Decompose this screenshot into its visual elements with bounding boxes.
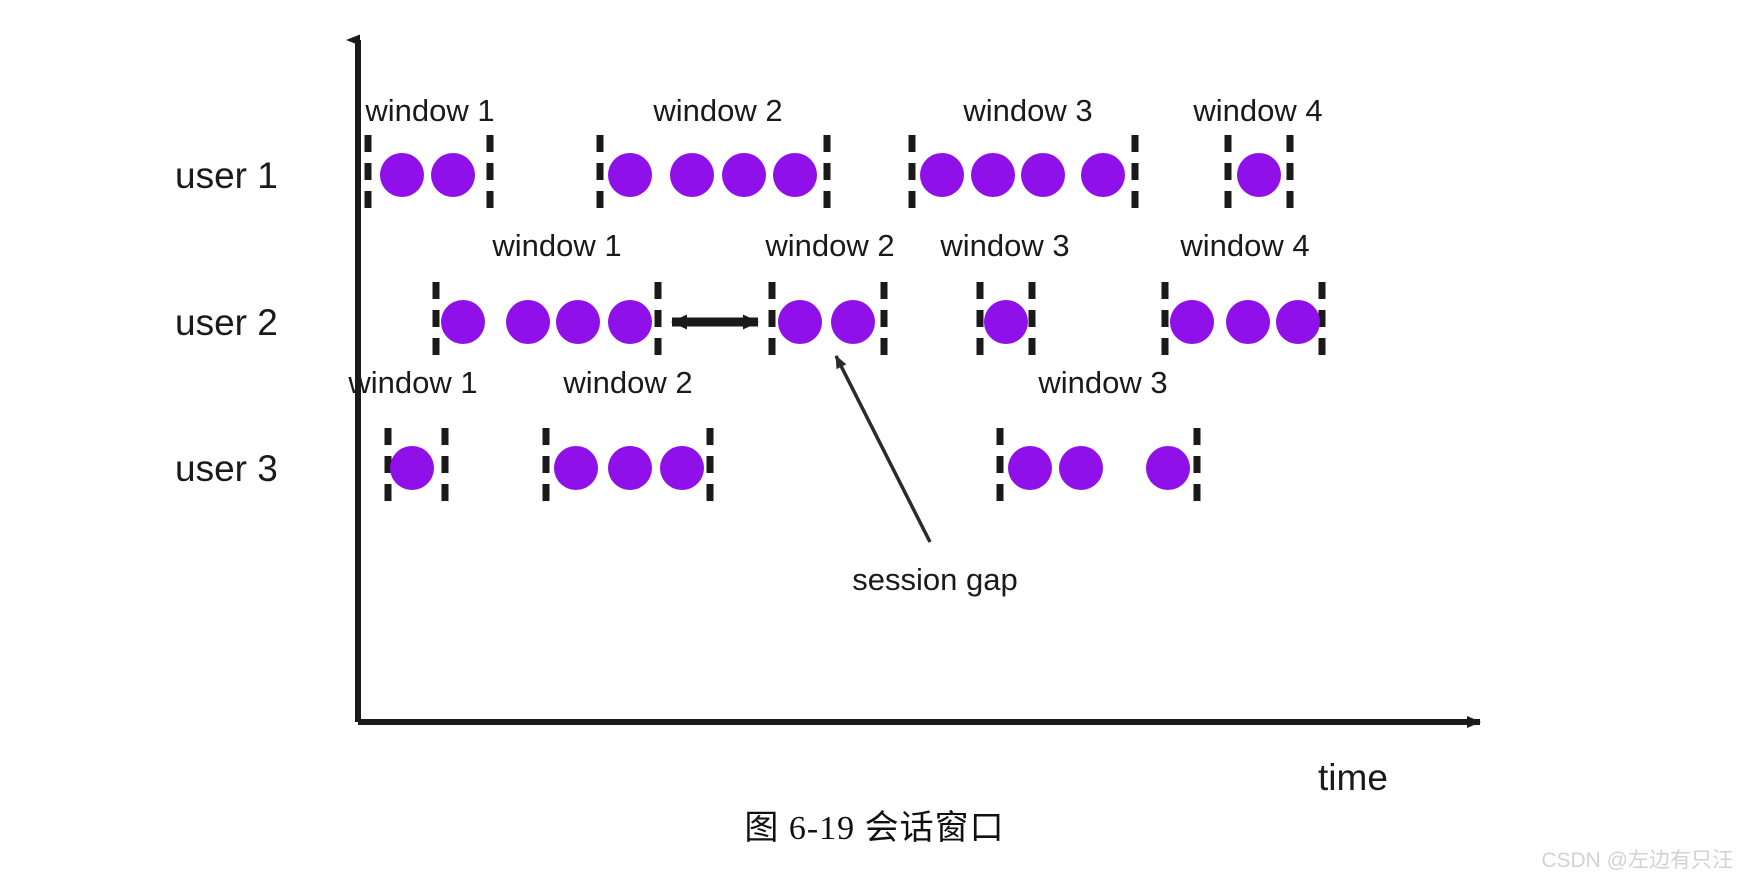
event-dot	[773, 153, 817, 197]
user-label-2: user 2	[175, 302, 278, 343]
event-dot	[431, 153, 475, 197]
event-dot	[1170, 300, 1214, 344]
session-gap-label: session gap	[852, 562, 1017, 597]
session-window[interactable]: window 2	[546, 365, 710, 508]
timeline-rows: window 1window 2window 3window 4window 1…	[347, 93, 1322, 508]
window-label: window 2	[652, 93, 782, 128]
x-axis-label: time	[1318, 757, 1388, 798]
session-window[interactable]: window 1	[364, 93, 494, 215]
event-dot	[390, 446, 434, 490]
event-dot	[380, 153, 424, 197]
session-gap-leader-line	[836, 356, 930, 542]
event-dot	[506, 300, 550, 344]
session-window[interactable]: window 2	[600, 93, 827, 215]
window-label: window 1	[491, 228, 621, 263]
user-label-1: user 1	[175, 155, 278, 196]
event-dot	[1059, 446, 1103, 490]
session-window[interactable]: window 3	[939, 228, 1069, 362]
csdn-watermark: CSDN @左边有只汪	[1541, 844, 1733, 874]
event-dot	[1008, 446, 1052, 490]
user-labels: user 1 user 2 user 3	[175, 155, 278, 489]
session-window[interactable]: window 1	[436, 228, 658, 362]
event-dot	[1237, 153, 1281, 197]
event-dot	[1146, 446, 1190, 490]
window-label: window 3	[1037, 365, 1167, 400]
event-dot	[556, 300, 600, 344]
window-label: window 1	[347, 365, 477, 400]
session-window[interactable]: window 3	[912, 93, 1135, 215]
session-window[interactable]: window 4	[1165, 228, 1322, 362]
timeline-row: window 1window 2window 3	[347, 365, 1197, 508]
event-dot	[920, 153, 964, 197]
event-dot	[778, 300, 822, 344]
axis-group: time	[358, 40, 1480, 798]
event-dot	[670, 153, 714, 197]
figure-canvas: time user 1 user 2 user 3 window 1window…	[0, 0, 1749, 884]
figure-caption: 图 6-19 会话窗口	[0, 800, 1749, 849]
user-label-3: user 3	[175, 448, 278, 489]
window-label: window 2	[562, 365, 692, 400]
event-dot	[722, 153, 766, 197]
window-label: window 3	[939, 228, 1069, 263]
window-label: window 2	[764, 228, 894, 263]
session-window[interactable]: window 3	[1000, 365, 1197, 508]
event-dot	[831, 300, 875, 344]
session-window[interactable]: window 2	[764, 228, 894, 362]
event-dot	[1226, 300, 1270, 344]
event-dot	[441, 300, 485, 344]
session-window[interactable]: window 1	[347, 365, 477, 508]
event-dot	[1276, 300, 1320, 344]
event-dot	[554, 446, 598, 490]
event-dot	[608, 300, 652, 344]
event-dot	[608, 446, 652, 490]
session-gap-pointer: session gap	[836, 356, 1018, 597]
event-dot	[984, 300, 1028, 344]
timeline-row: window 1window 2window 3window 4	[436, 228, 1322, 362]
window-label: window 4	[1192, 93, 1322, 128]
session-window-diagram: time user 1 user 2 user 3 window 1window…	[0, 0, 1749, 884]
event-dot	[608, 153, 652, 197]
session-window[interactable]: window 4	[1192, 93, 1322, 215]
event-dot	[1081, 153, 1125, 197]
event-dot	[971, 153, 1015, 197]
window-label: window 3	[962, 93, 1092, 128]
window-label: window 1	[364, 93, 494, 128]
event-dot	[1021, 153, 1065, 197]
window-label: window 4	[1179, 228, 1309, 263]
timeline-row: window 1window 2window 3window 4	[364, 93, 1322, 215]
event-dot	[660, 446, 704, 490]
